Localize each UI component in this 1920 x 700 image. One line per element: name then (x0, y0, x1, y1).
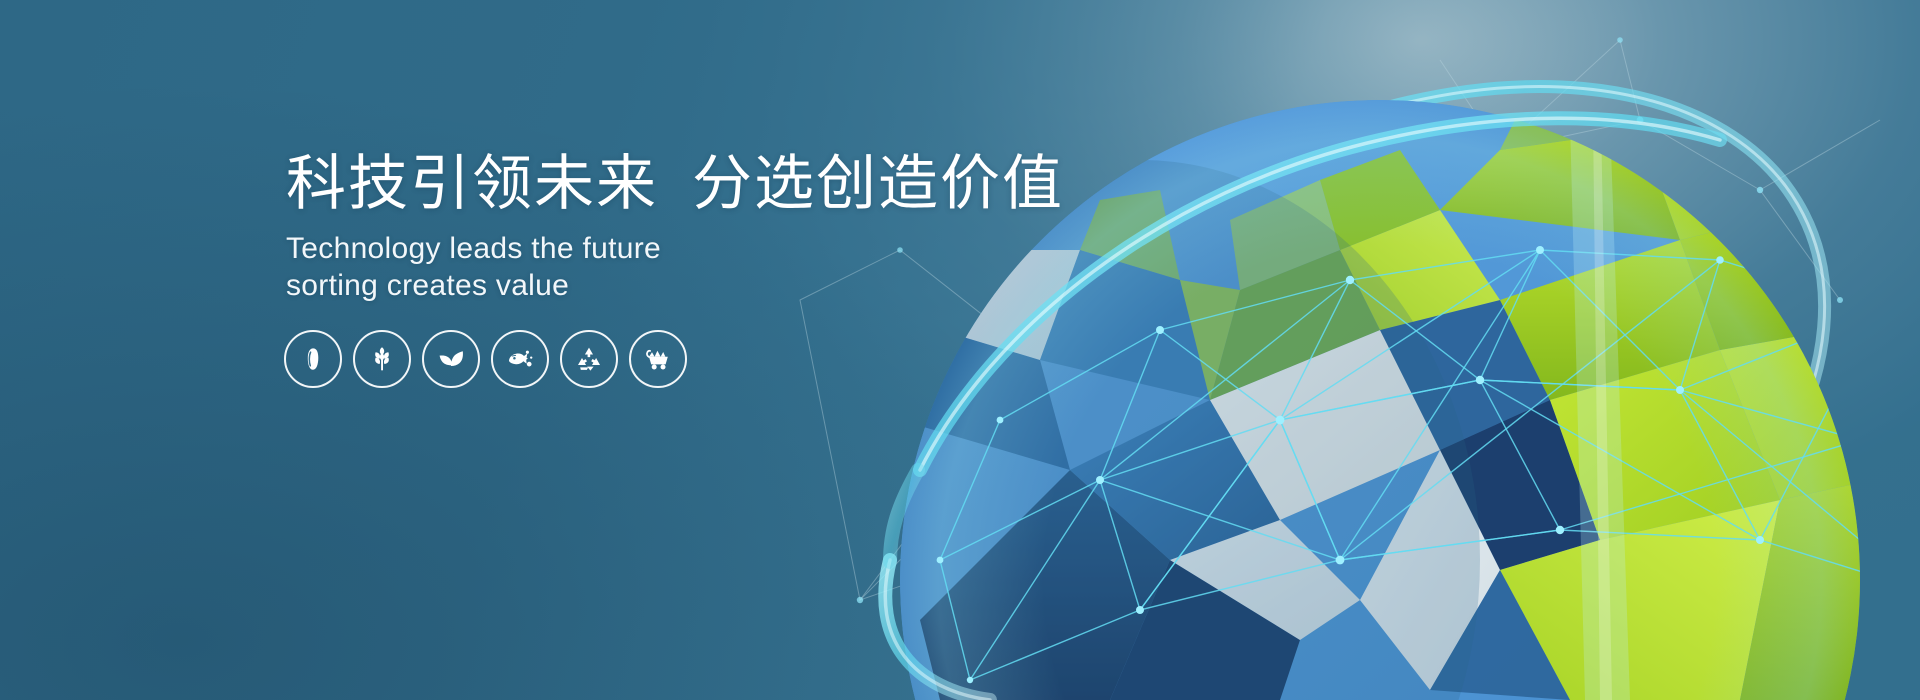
page-subtitle: Technology leads the future sorting crea… (286, 231, 1064, 304)
industry-icon-row (284, 330, 687, 388)
icon-badge-wheat[interactable] (353, 330, 411, 388)
recycle-icon (574, 344, 604, 374)
headline-part-2: 分选创造价值 (692, 150, 1064, 217)
icon-badge-mining-cart[interactable] (629, 330, 687, 388)
wheat-ear-icon (367, 344, 397, 374)
banner-hero: 科技引领未来分选创造价值 Technology leads the future… (0, 0, 1920, 700)
rice-grain-icon (298, 344, 328, 374)
fish-icon (504, 343, 536, 375)
mining-cart-icon (642, 343, 674, 375)
leaves-icon (435, 343, 467, 375)
icon-badge-fish[interactable] (491, 330, 549, 388)
icon-badge-leaves[interactable] (422, 330, 480, 388)
page-title: 科技引领未来分选创造价值 (286, 152, 1064, 215)
hero-copy: 科技引领未来分选创造价值 Technology leads the future… (286, 152, 1064, 304)
icon-badge-rice-grain[interactable] (284, 330, 342, 388)
headline-part-1: 科技引领未来 (286, 150, 658, 217)
subtitle-line-1: Technology leads the future (286, 231, 1064, 268)
subtitle-line-2: sorting creates value (286, 268, 1064, 305)
icon-badge-recycle[interactable] (560, 330, 618, 388)
